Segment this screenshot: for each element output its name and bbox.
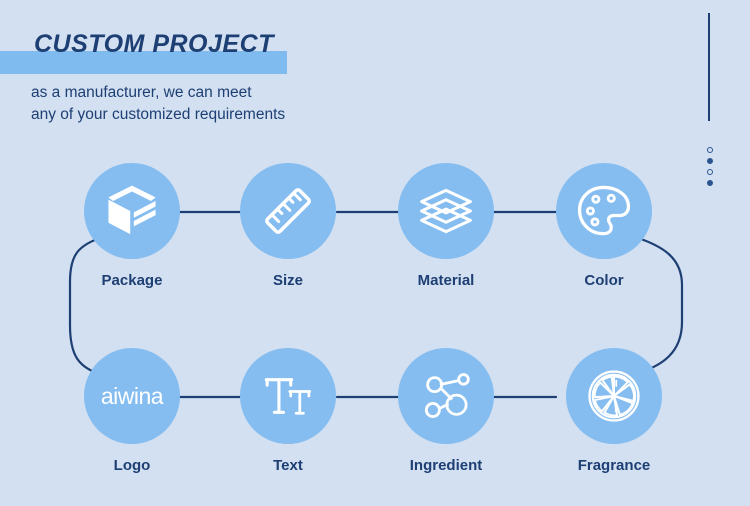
dot-sequence-decoration [704, 147, 716, 191]
vertical-rule-decoration [708, 13, 710, 121]
node-material[interactable]: Material [394, 163, 498, 289]
rail-dot-filled [707, 158, 713, 164]
node-color-label: Color [552, 272, 656, 289]
typography-icon [259, 367, 317, 425]
node-package-label: Package [80, 272, 184, 289]
node-color-circle[interactable] [556, 163, 652, 259]
node-logo-label: Logo [80, 457, 184, 474]
page-title: CUSTOM PROJECT [34, 30, 274, 59]
node-material-circle[interactable] [398, 163, 494, 259]
node-ingredient-label: Ingredient [394, 457, 498, 474]
citrus-slice-icon [585, 367, 643, 425]
node-fragrance-label: Fragrance [562, 457, 666, 474]
node-ingredient[interactable]: Ingredient [394, 348, 498, 474]
brand-wordmark-icon: aiwina [101, 383, 163, 410]
layers-icon [416, 181, 476, 241]
node-package[interactable]: Package [80, 163, 184, 289]
molecule-icon [418, 368, 474, 424]
node-text-label: Text [236, 457, 340, 474]
subtitle-line-1: as a manufacturer, we can meet [31, 82, 285, 104]
rail-dot-hollow [707, 147, 713, 153]
custom-project-infographic: CUSTOM PROJECT as a manufacturer, we can… [0, 0, 750, 506]
node-ingredient-circle[interactable] [398, 348, 494, 444]
subtitle-line-2: any of your customized requirements [31, 104, 285, 126]
node-fragrance[interactable]: Fragrance [562, 348, 666, 474]
node-color[interactable]: Color [552, 163, 656, 289]
node-size-label: Size [236, 272, 340, 289]
node-logo[interactable]: aiwina Logo [80, 348, 184, 474]
open-box-icon [103, 182, 161, 240]
node-fragrance-circle[interactable] [566, 348, 662, 444]
ruler-icon [260, 183, 316, 239]
rail-dot-hollow [707, 169, 713, 175]
page-subtitle: as a manufacturer, we can meet any of yo… [31, 82, 285, 126]
node-text[interactable]: Text [236, 348, 340, 474]
node-material-label: Material [394, 272, 498, 289]
rail-dot-filled [707, 180, 713, 186]
node-size-circle[interactable] [240, 163, 336, 259]
node-logo-circle[interactable]: aiwina [84, 348, 180, 444]
node-text-circle[interactable] [240, 348, 336, 444]
paint-palette-icon [575, 182, 633, 240]
node-size[interactable]: Size [236, 163, 340, 289]
node-package-circle[interactable] [84, 163, 180, 259]
